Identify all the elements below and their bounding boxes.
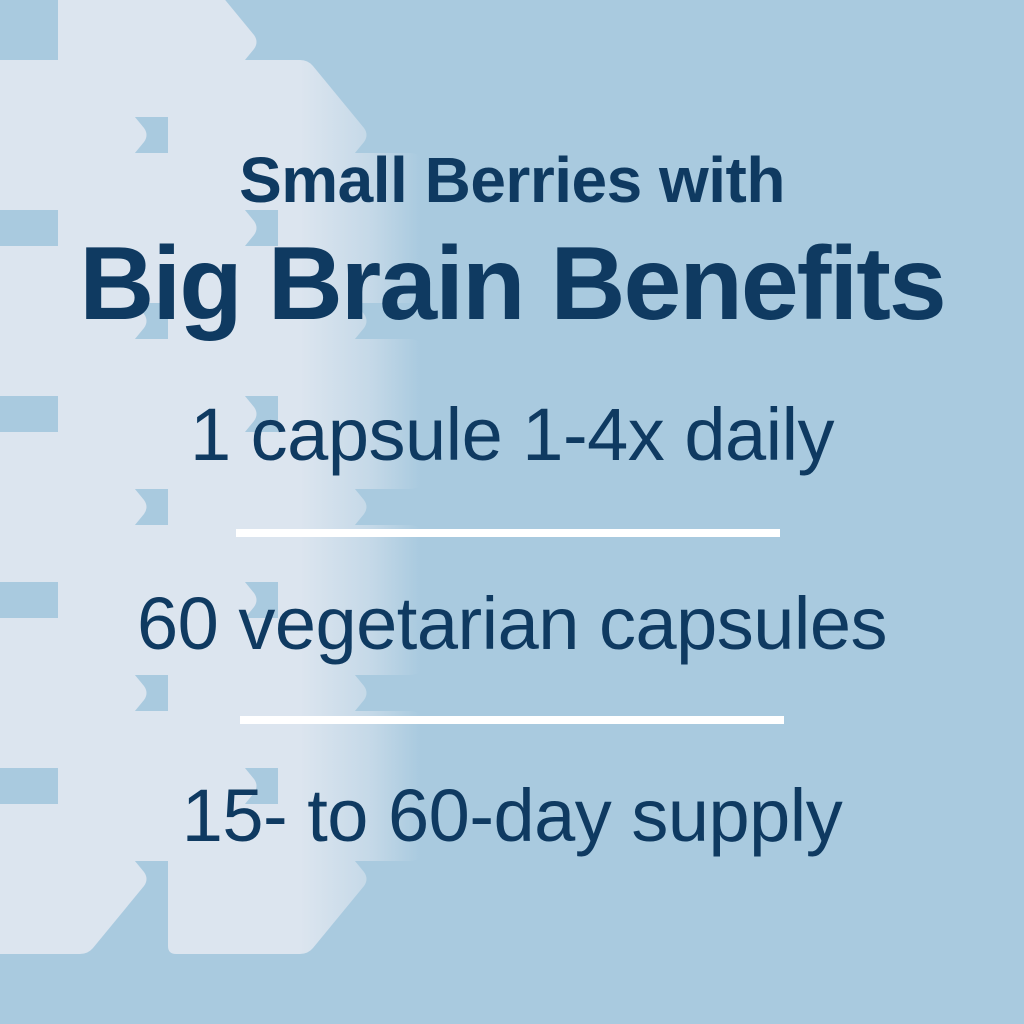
headline-kicker: Small Berries with [0,148,1024,212]
product-benefit-panel: Small Berries with Big Brain Benefits 1 … [0,0,1024,1024]
fact-item-count: 60 vegetarian capsules [0,587,1024,661]
divider-rule-2 [240,716,784,724]
fact-item-dosage: 1 capsule 1-4x daily [0,398,1024,472]
divider-rule-1 [236,529,780,537]
panel-content: Small Berries with Big Brain Benefits 1 … [0,0,1024,1024]
headline-title: Big Brain Benefits [0,232,1024,336]
fact-item-supply: 15- to 60-day supply [0,779,1024,853]
